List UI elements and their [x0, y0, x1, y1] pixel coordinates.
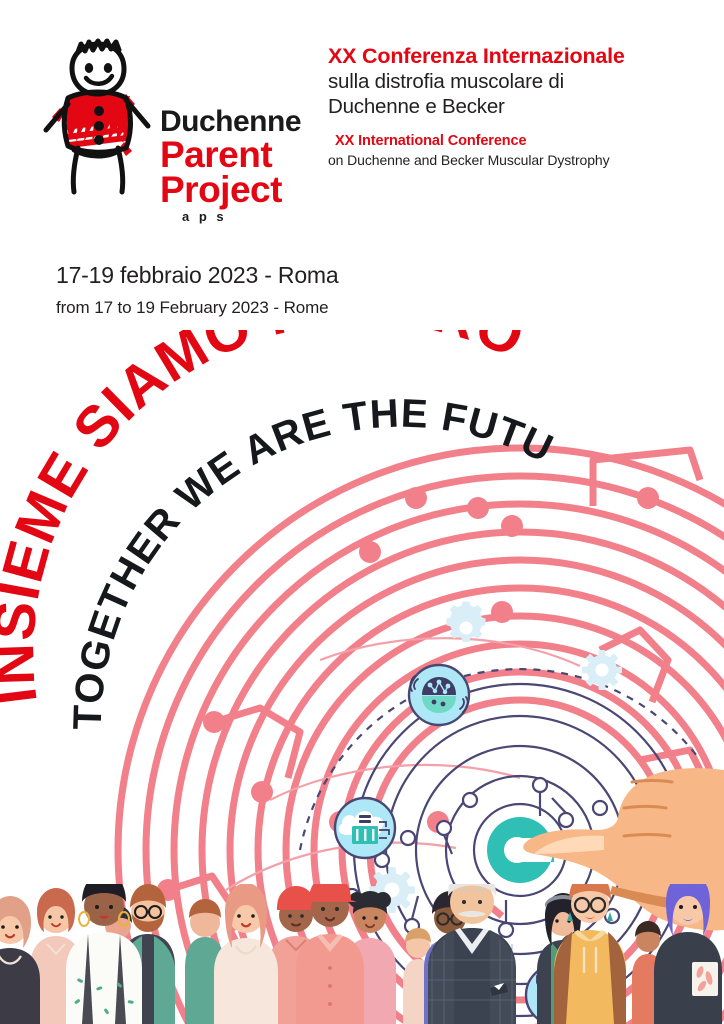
logo-line-aps: a p s [182, 209, 310, 224]
crowd-illustration [0, 884, 724, 1024]
logo-line-duchenne: Duchenne [160, 108, 310, 136]
event-dates-italian: 17-19 febbraio 2023 - Roma [56, 262, 476, 289]
event-dates-block: 17-19 febbraio 2023 - Roma from 17 to 19… [56, 262, 476, 318]
ai-brain-icon [409, 665, 469, 725]
cloud-data-icon [335, 798, 395, 858]
event-dates-english: from 17 to 19 February 2023 - Rome [56, 298, 476, 318]
organization-logo: Duchenne Parent Project a p s [38, 38, 306, 210]
gear-icon [582, 650, 622, 690]
conference-title-english: XX International Conference [335, 133, 720, 149]
logo-line-project: Project [160, 173, 310, 207]
logo-line-parent: Parent [160, 138, 310, 172]
logo-wordmark: Duchenne Parent Project a p s [160, 108, 310, 224]
conference-title-italian: XX Conferenza Internazionale [328, 44, 720, 69]
conference-subtitle-english: on Duchenne and Becker Muscular Dystroph… [328, 152, 720, 168]
conference-title-block: XX Conferenza Internazionale sulla distr… [328, 44, 720, 168]
conference-subtitle-italian-line1: sulla distrofia muscolare di [328, 69, 720, 94]
circuit-thin-lines [226, 638, 580, 890]
gear-icon [446, 602, 485, 642]
conference-poster: Duchenne Parent Project a p s XX Confere… [0, 0, 724, 1024]
poster-header: Duchenne Parent Project a p s XX Confere… [0, 0, 724, 225]
child-figure-logo-icon [38, 38, 156, 198]
conference-subtitle-italian-line2: Duchenne e Becker [328, 94, 720, 119]
